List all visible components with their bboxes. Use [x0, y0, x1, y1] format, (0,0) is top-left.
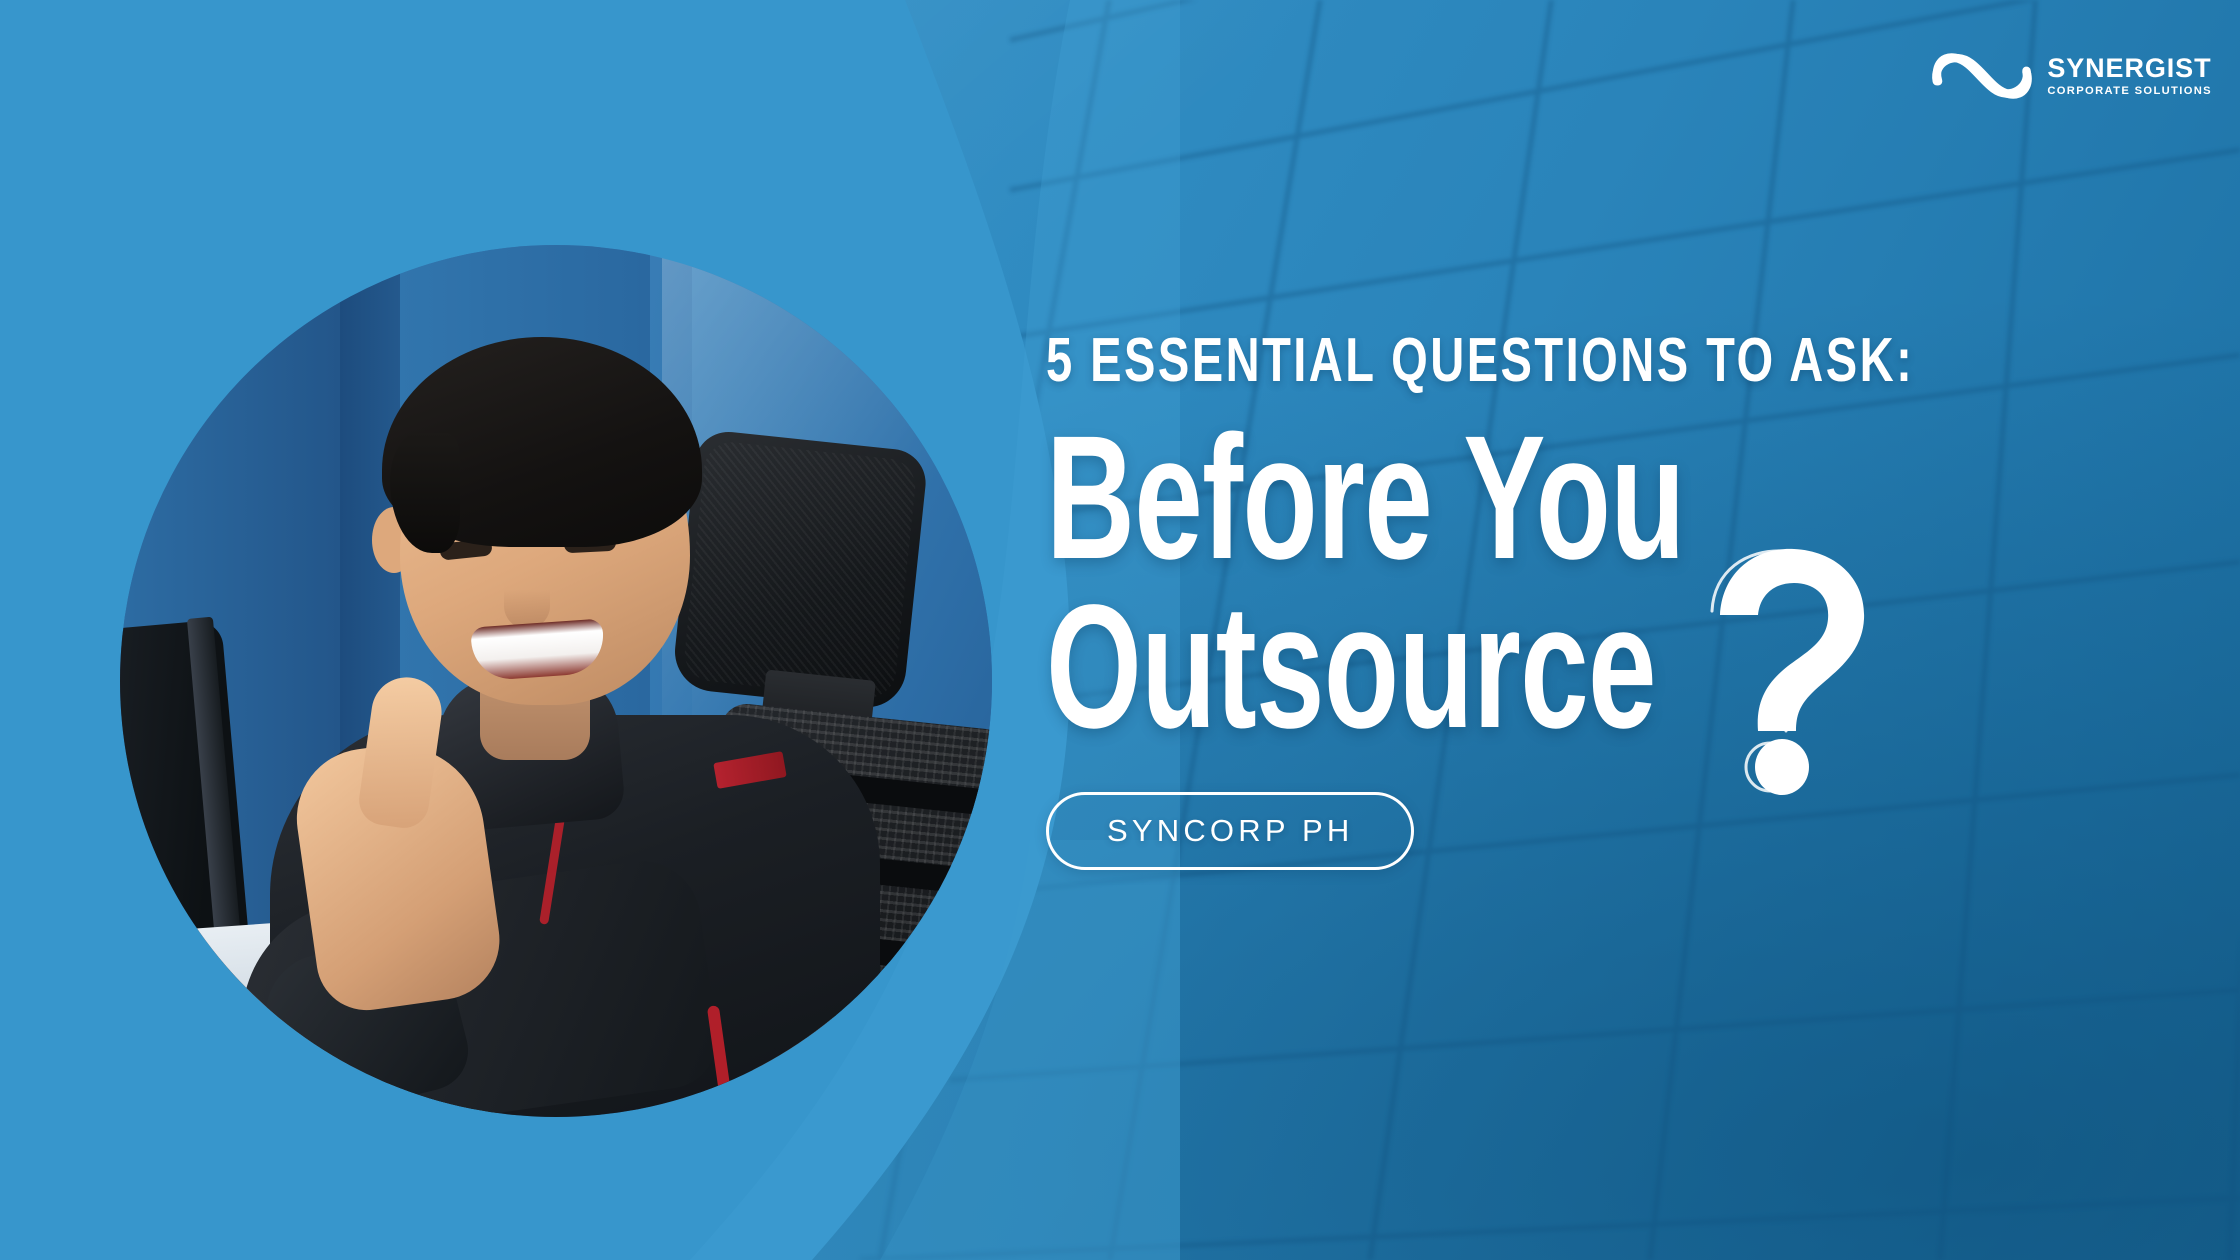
headline-line-2: Outsource — [1046, 583, 1823, 752]
logo-tagline: CORPORATE SOLUTIONS — [2047, 86, 2212, 97]
office-chair-headrest — [671, 429, 929, 712]
poster-canvas: SYNERGIST CORPORATE SOLUTIONS — [0, 0, 2240, 1260]
hero-eyebrow: 5 ESSENTIAL QUESTIONS TO ASK: — [1046, 330, 1890, 392]
headline-line-2-wrapper: Outsource — [1046, 583, 2156, 752]
brand-logo[interactable]: SYNERGIST CORPORATE SOLUTIONS — [1929, 44, 2212, 108]
photo-scene — [120, 245, 992, 1117]
hero-headline: Before You Outsource — [1046, 414, 2156, 752]
infinity-wave-mark-icon — [1929, 44, 2033, 108]
hero-copy: 5 ESSENTIAL QUESTIONS TO ASK: Before You… — [1046, 330, 2156, 870]
cta-button[interactable]: SYNCORP PH — [1046, 792, 1414, 870]
person-nose — [504, 563, 550, 629]
hero-photo — [120, 245, 992, 1117]
logo-wordmark: SYNERGIST CORPORATE SOLUTIONS — [2047, 55, 2212, 97]
headline-line-1: Before You — [1046, 414, 1823, 583]
logo-company-name: SYNERGIST — [2047, 55, 2212, 82]
